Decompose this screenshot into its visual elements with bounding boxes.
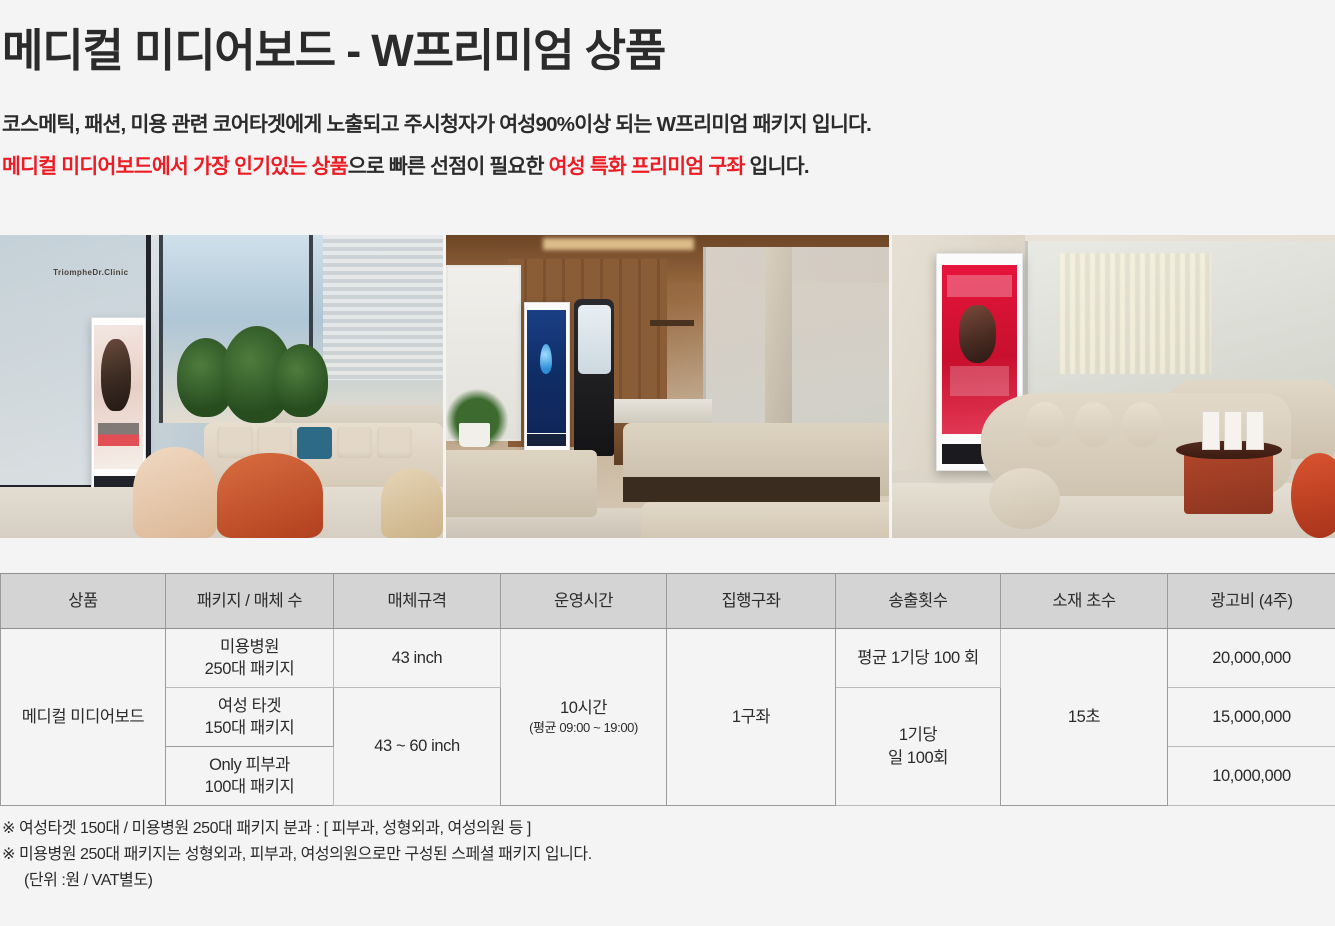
table-row: 메디컬 미디어보드 미용병원 250대 패키지 43 inch 10시간 (평균… [1,629,1335,688]
bolster-cushion-3 [1122,402,1162,447]
photo-cream-lounge-red-signage [892,235,1335,538]
product-spec-page: 메디컬 미디어보드 - W프리미엄 상품 코스메틱, 패션, 미용 관련 코어타… [0,0,1335,926]
col-header-price: 광고비 (4주) [1168,574,1335,629]
subtitle-highlight-premium-slot: 여성 특화 프리미엄 구좌 [549,155,745,178]
col-header-product: 상품 [1,574,166,629]
operating-hours-sub: (평균 09:00 ~ 19:00) [503,719,664,737]
sofa-right-base [623,477,880,501]
sofa-left [446,450,597,517]
kiosk-bottom-bar [527,434,566,446]
cushion-3 [337,427,372,457]
package-3-line2: 100대 패키지 [205,778,295,796]
cell-slots: 1구좌 [667,629,836,806]
model-portrait [101,339,131,411]
table-header-row: 상품 패키지 / 매체 수 매체규격 운영시간 집행구좌 송출횟수 소재 초수 … [1,574,1335,629]
kiosk-screen [94,325,142,469]
sofa-foreground [641,502,889,538]
product-spec-table: 상품 패키지 / 매체 수 매체규격 운영시간 집행구좌 송출횟수 소재 초수 … [0,573,1335,806]
round-ottoman [989,468,1060,529]
col-header-broadcast: 송출횟수 [836,574,1001,629]
ceiling-light-glow [543,238,694,250]
ottoman-tan [381,468,443,538]
model-portrait [959,305,996,362]
footnote-unit: (단위 :원 / VAT별도) [2,868,592,894]
photo-clinic-lobby-glass-facade: TriompheDr.Clinic [0,235,443,538]
photo-wood-waiting-room-blue-signage [446,235,889,538]
subtitle-highlight-popular: 메디컬 미디어보드에서 가장 인기있는 상품 [2,155,348,178]
cushion-4 [377,427,412,457]
water-drop-graphic [540,344,552,373]
subtitle-plain-mid: 으로 빠른 선점이 필요한 [348,155,549,178]
cell-duration: 15초 [1001,629,1168,806]
broadcast-rows23-line2: 일 100회 [888,749,948,767]
stone-pillar [765,247,792,447]
cell-package-1: 미용병원 250대 패키지 [166,629,334,688]
cushion-1 [217,427,252,457]
bolster-cushion-1 [1025,402,1065,447]
window-blinds [323,235,443,380]
brochure-1 [1202,411,1220,450]
frosted-glass-partition [703,247,889,447]
footnote-1: ※ 여성타겟 150대 / 미용병원 250대 패키지 분과 : [ 피부과, … [2,816,592,842]
kiosk-lower-text-block [950,366,1009,396]
page-title: 메디컬 미디어보드 - W프리미엄 상품 [2,0,1335,81]
cell-price-3: 10,000,000 [1168,747,1335,806]
cell-broadcast-row1: 평균 1기당 100 회 [836,629,1001,688]
kiosk-headline-band [947,275,1012,297]
photo-gallery: TriompheDr.Clinic [0,235,1335,538]
cell-package-3: Only 피부과 100대 패키지 [166,747,334,806]
col-header-duration: 소재 초수 [1001,574,1168,629]
cushion-blue-logo [297,427,332,459]
machine-screen [578,305,611,374]
black-kiosk-machine [574,299,614,457]
package-1-line1: 미용병원 [220,638,279,656]
subtitle-line-2: 메디컬 미디어보드에서 가장 인기있는 상품으로 빠른 선점이 필요한 여성 특… [2,153,1335,181]
kiosk-screen [527,310,566,433]
sheer-curtain [1060,253,1211,374]
subtitle-line-1: 코스메틱, 패션, 미용 관련 코어타겟에게 노출되고 주시청자가 여성90%이… [2,111,1335,139]
cell-spec-row1: 43 inch [334,629,501,688]
col-header-slots: 집행구좌 [667,574,836,629]
package-3-line1: Only 피부과 [209,756,290,774]
cell-product-name: 메디컬 미디어보드 [1,629,166,806]
cell-operating-hours: 10시간 (평균 09:00 ~ 19:00) [501,629,667,806]
brochure-3 [1246,411,1264,450]
col-header-package: 패키지 / 매체 수 [166,574,334,629]
clinic-logo-text: TriompheDr.Clinic [53,268,128,277]
marble-counter [614,399,711,423]
armchair-cream [133,447,217,538]
plant-right [275,344,328,417]
cell-broadcast-rows23: 1기당 일 100회 [836,688,1001,806]
package-2-line1: 여성 타겟 [218,697,281,715]
package-1-line2: 250대 패키지 [205,660,295,678]
cell-price-1: 20,000,000 [1168,629,1335,688]
digital-signage-kiosk [524,302,571,454]
armchair-orange [217,453,323,538]
page-header: 메디컬 미디어보드 - W프리미엄 상품 코스메틱, 패션, 미용 관련 코어타… [0,0,1335,181]
plant-pot [459,423,490,447]
cell-package-2: 여성 타겟 150대 패키지 [166,688,334,747]
package-2-line2: 150대 패키지 [205,719,295,737]
footnotes: ※ 여성타겟 150대 / 미용병원 250대 패키지 분과 : [ 피부과, … [2,816,592,894]
kiosk-ad-text-block [98,423,138,446]
broadcast-rows23-line1: 1기당 [899,726,937,744]
col-header-hours: 운영시간 [501,574,667,629]
display-shelf [650,320,694,326]
subtitle-plain-end: 입니다. [745,155,809,178]
operating-hours-main: 10시간 [560,699,607,717]
cell-spec-rows23: 43 ~ 60 inch [334,688,501,806]
brochure-2 [1224,411,1242,450]
footnote-2: ※ 미용병원 250대 패키지는 성형외과, 피부과, 여성의원으로만 구성된 … [2,842,592,868]
cell-price-2: 15,000,000 [1168,688,1335,747]
col-header-spec: 매체규격 [334,574,501,629]
